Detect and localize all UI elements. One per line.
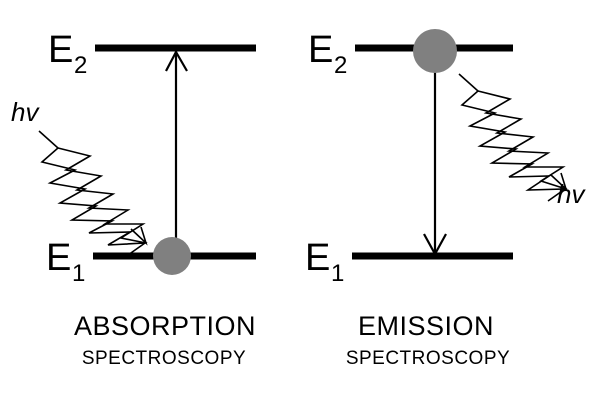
absorption-caption-main: ABSORPTION	[74, 311, 256, 341]
absorption-lower-level-subscript: 1	[72, 260, 85, 287]
emission-photon-wave	[459, 74, 565, 201]
emission-lower-level-label: E	[305, 237, 330, 279]
emission-caption-main: EMISSION	[358, 311, 494, 341]
absorption-upper-level-label: E	[48, 29, 73, 71]
absorption-photon-wave-secondary	[58, 148, 146, 243]
diagram-canvas: E 2 E 1 hv ABSORPTION SPECTROSCOPY	[0, 0, 600, 400]
emission-lower-level-subscript: 1	[331, 260, 344, 287]
absorption-photon-label: hv	[11, 97, 40, 127]
emission-upper-level-label: E	[308, 29, 333, 71]
absorption-caption-sub: SPECTROSCOPY	[82, 348, 246, 369]
energy-level-diagram: E 2 E 1 hv ABSORPTION SPECTROSCOPY	[0, 0, 600, 400]
absorption-lower-level-label: E	[46, 237, 71, 279]
emission-upper-level-subscript: 2	[334, 52, 347, 79]
emission-caption-sub: SPECTROSCOPY	[346, 348, 510, 369]
emission-electron-dot	[413, 29, 457, 73]
absorption-electron-dot	[153, 237, 191, 275]
absorption-upper-level-subscript: 2	[74, 52, 87, 79]
emission-photon-label: hv	[557, 179, 586, 209]
emission-panel: E 2 E 1 hv EMISSION SPECTROSCOPY	[305, 29, 586, 369]
absorption-panel: E 2 E 1 hv ABSORPTION SPECTROSCOPY	[11, 29, 256, 369]
